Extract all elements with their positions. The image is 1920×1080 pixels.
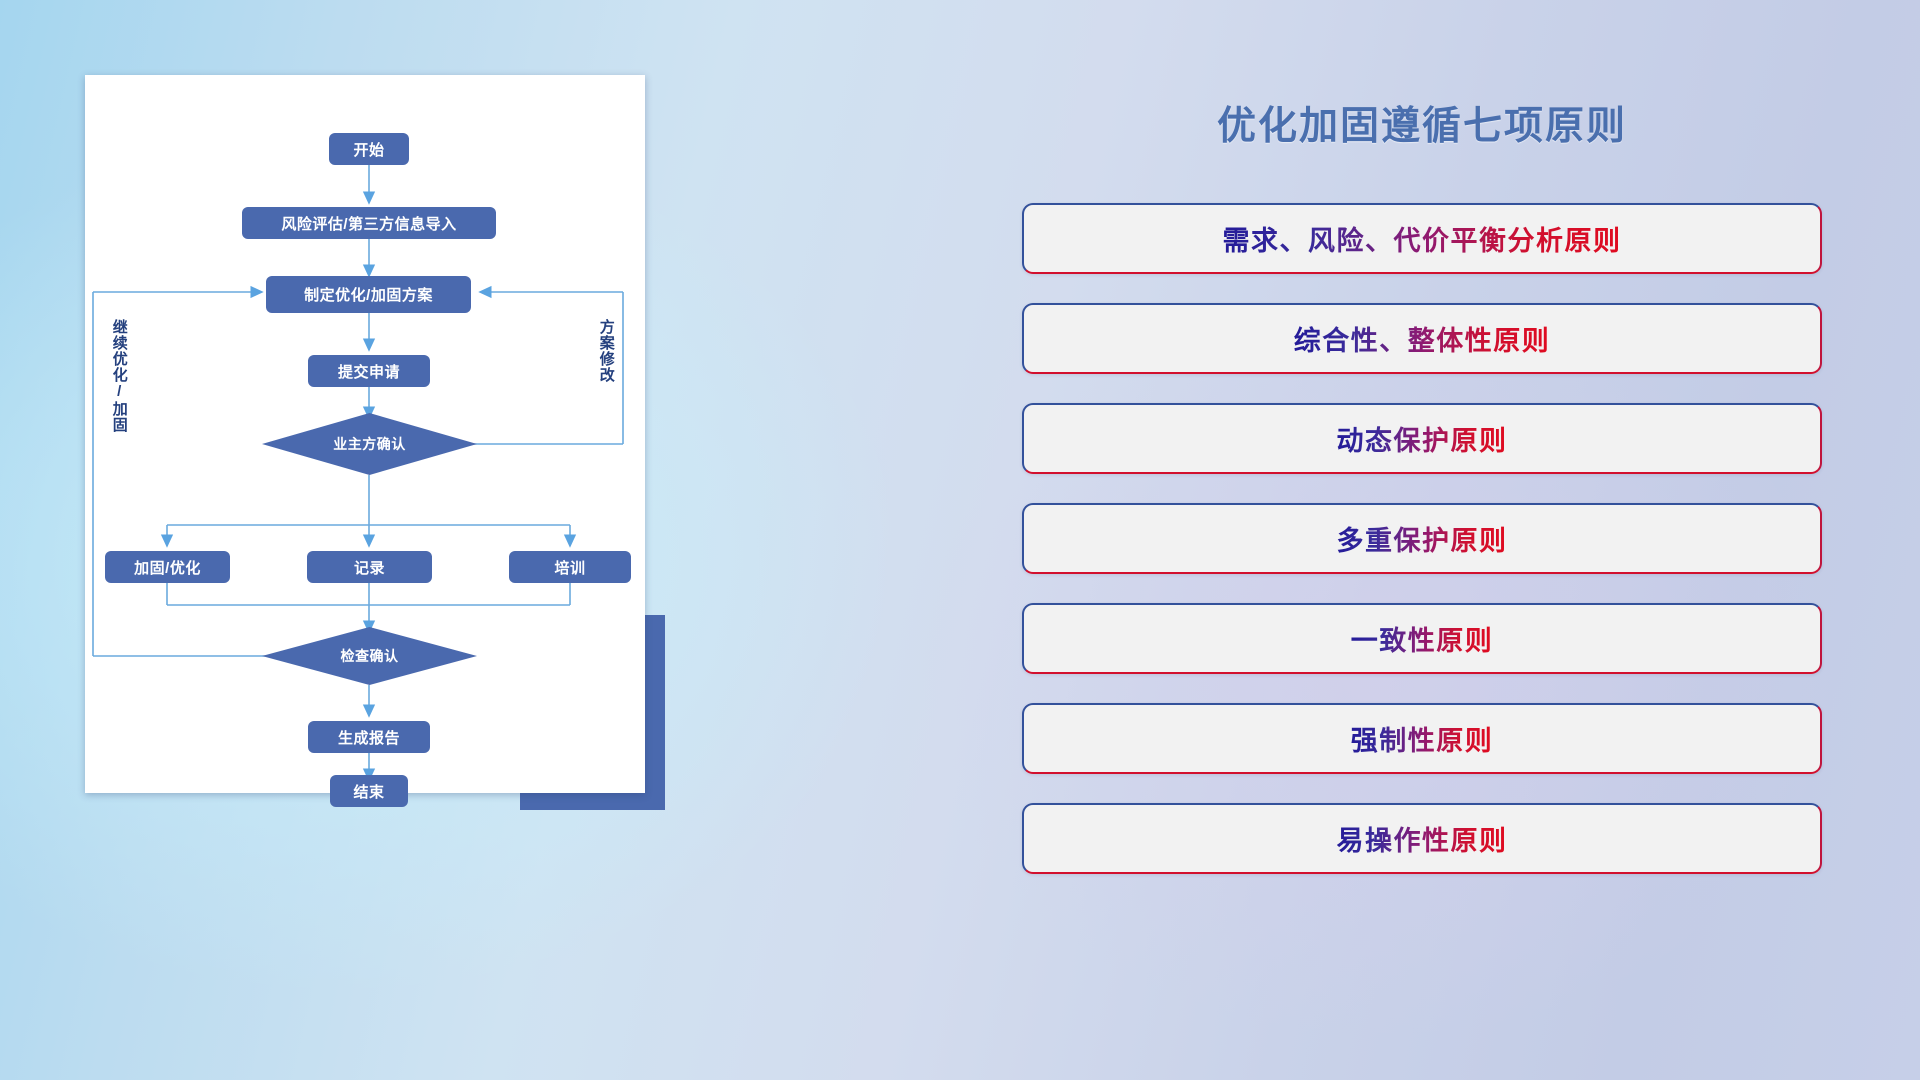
principle-label: 动态保护原则 bbox=[1337, 419, 1508, 458]
flow-node-label: 提交申请 bbox=[338, 361, 400, 382]
flow-node-label: 记录 bbox=[354, 557, 385, 578]
flow-node-label: 风险评估/第三方信息导入 bbox=[281, 213, 456, 234]
principles-title: 优化加固遵循七项原则 bbox=[1022, 95, 1822, 151]
flow-node-label: 检查确认 bbox=[341, 646, 399, 666]
principle-card[interactable]: 综合性、整体性原则 bbox=[1022, 303, 1822, 374]
flowchart-panel: 开始 风险评估/第三方信息导入 制定优化/加固方案 提交申请 业主方确认 加固/… bbox=[85, 75, 663, 800]
flow-node-record[interactable]: 记录 bbox=[307, 551, 432, 583]
flow-node-label: 结束 bbox=[353, 781, 384, 802]
principle-label: 综合性、整体性原则 bbox=[1294, 319, 1551, 358]
flow-node-label: 开始 bbox=[353, 139, 384, 160]
flow-node-reinforce[interactable]: 加固/优化 bbox=[105, 551, 230, 583]
flow-node-owner-confirm[interactable]: 业主方确认 bbox=[262, 413, 477, 475]
principle-card[interactable]: 一致性原则 bbox=[1022, 603, 1822, 674]
flow-node-label: 制定优化/加固方案 bbox=[304, 284, 433, 305]
flow-node-end[interactable]: 结束 bbox=[330, 775, 408, 807]
flow-node-generate-report[interactable]: 生成报告 bbox=[308, 721, 430, 753]
flow-node-check-confirm[interactable]: 检查确认 bbox=[262, 627, 477, 685]
flow-node-risk-assessment[interactable]: 风险评估/第三方信息导入 bbox=[242, 207, 496, 239]
flow-node-start[interactable]: 开始 bbox=[329, 133, 409, 165]
principle-label: 一致性原则 bbox=[1351, 619, 1494, 658]
principle-card[interactable]: 强制性原则 bbox=[1022, 703, 1822, 774]
principle-label: 强制性原则 bbox=[1351, 719, 1494, 758]
principle-card[interactable]: 易操作性原则 bbox=[1022, 803, 1822, 874]
flow-node-training[interactable]: 培训 bbox=[509, 551, 631, 583]
flow-node-label: 生成报告 bbox=[338, 727, 400, 748]
flow-node-submit[interactable]: 提交申请 bbox=[308, 355, 430, 387]
principles-panel: 优化加固遵循七项原则 需求、风险、代价平衡分析原则 综合性、整体性原则 动态保护… bbox=[1022, 95, 1822, 903]
principle-label: 易操作性原则 bbox=[1337, 819, 1508, 858]
flow-edge-label-left-loop: 继续优化/加固 bbox=[111, 319, 127, 433]
principle-card[interactable]: 多重保护原则 bbox=[1022, 503, 1822, 574]
flow-node-label: 培训 bbox=[554, 557, 585, 578]
principle-label: 多重保护原则 bbox=[1337, 519, 1508, 558]
principle-label: 需求、风险、代价平衡分析原则 bbox=[1223, 219, 1622, 258]
principle-card[interactable]: 需求、风险、代价平衡分析原则 bbox=[1022, 203, 1822, 274]
flow-node-plan[interactable]: 制定优化/加固方案 bbox=[266, 276, 471, 313]
principle-card[interactable]: 动态保护原则 bbox=[1022, 403, 1822, 474]
flow-node-label: 加固/优化 bbox=[134, 557, 201, 578]
flow-edge-label-right-loop: 方案修改 bbox=[598, 319, 614, 383]
flow-node-label: 业主方确认 bbox=[333, 434, 406, 454]
